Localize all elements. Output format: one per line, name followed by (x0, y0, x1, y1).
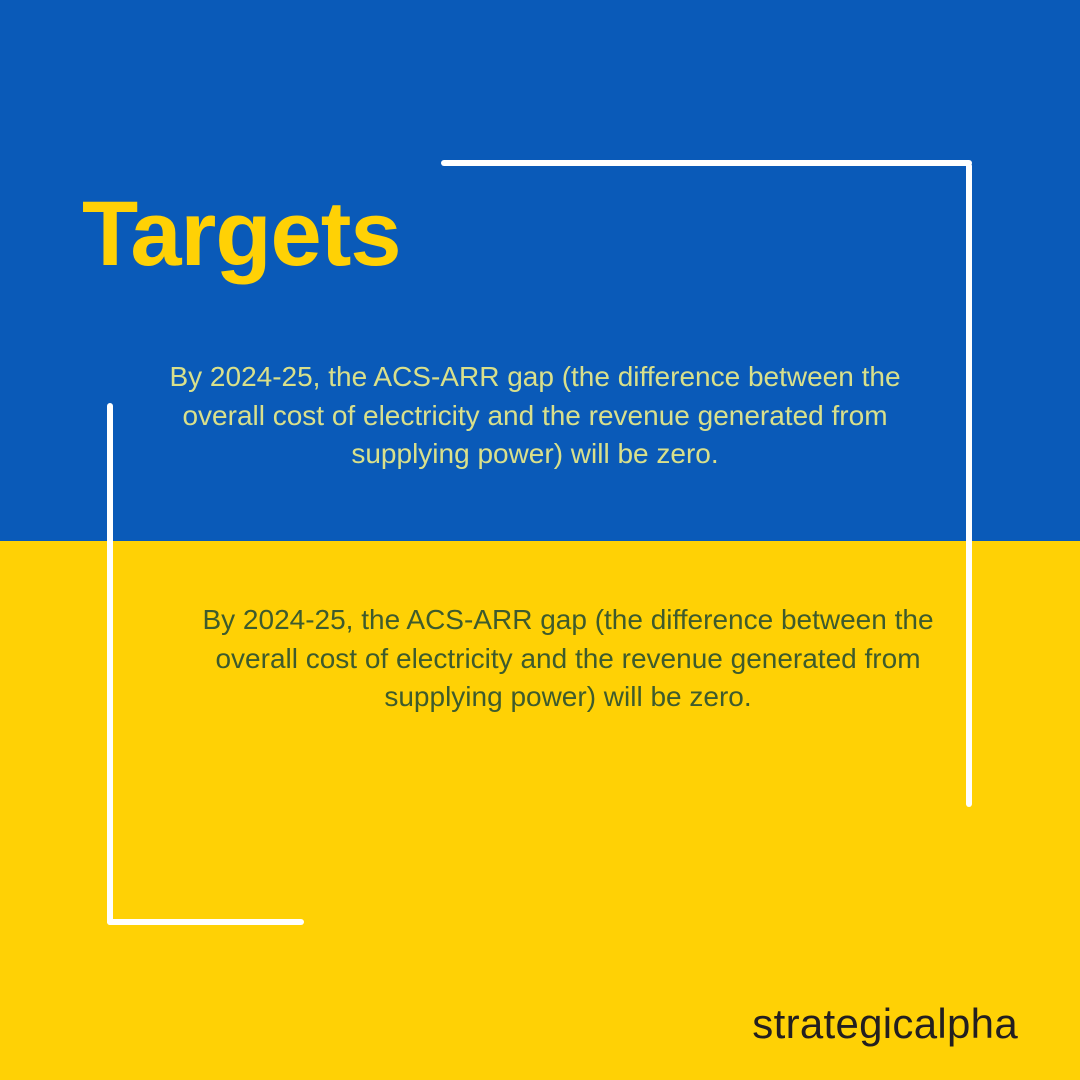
statement-bottom: By 2024-25, the ACS-ARR gap (the differe… (200, 601, 936, 717)
corner-bracket-bottom-left-horizontal-rule (107, 919, 304, 925)
corner-bracket-top-right-horizontal-rule (441, 160, 972, 166)
corner-bracket-bottom-left-vertical-rule (107, 403, 113, 925)
statement-top: By 2024-25, the ACS-ARR gap (the differe… (155, 358, 915, 474)
corner-bracket-top-right-vertical-rule (966, 163, 972, 807)
page-title: Targets (82, 188, 401, 280)
brand-wordmark: strategicalpha (0, 1000, 1018, 1048)
poster-canvas: Targets By 2024-25, the ACS-ARR gap (the… (0, 0, 1080, 1080)
